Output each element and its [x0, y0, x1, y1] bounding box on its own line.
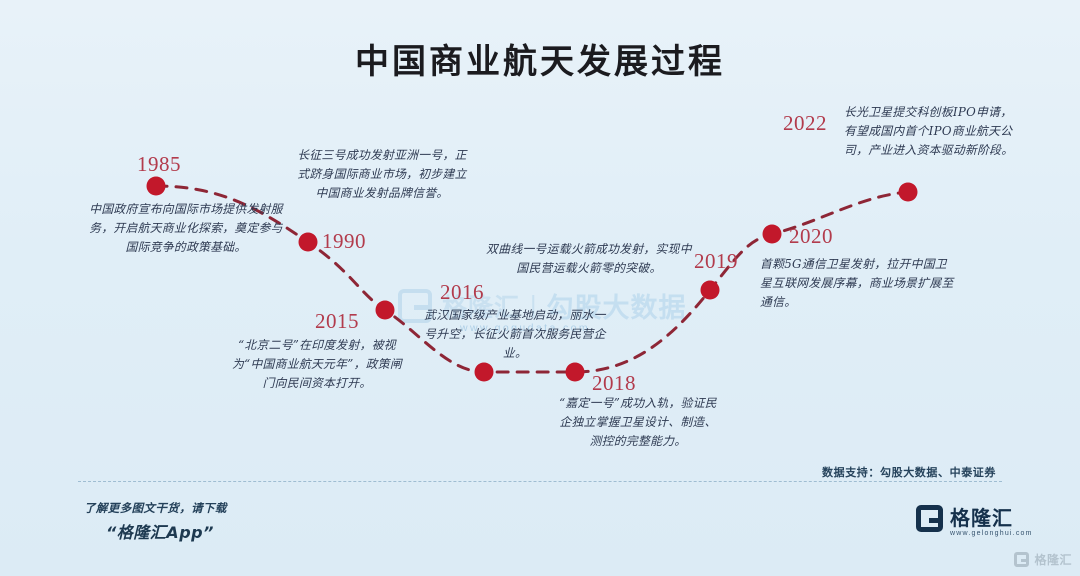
data-source-label: 数据支持：勾股大数据、中泰证券	[822, 464, 996, 480]
milestone-text-2022: 长光卫星提交科创板IPO申请，有望成国内首个IPO商业航天公司，产业进入资本驱动…	[844, 103, 1024, 160]
milestone-text-2015: “北京二号”在印度发射，被视为“中国商业航天元年”，政策闸门向民间资本打开。	[228, 336, 406, 393]
brand-logo-url: www.gelonghui.com	[950, 530, 1033, 537]
timeline-dot-1985	[147, 177, 166, 196]
brand-logo-text: 格隆汇	[950, 509, 1013, 529]
milestone-year-2019: 2019	[694, 249, 738, 274]
timeline-dot-1990	[299, 233, 318, 252]
milestone-year-2015: 2015	[315, 309, 359, 334]
milestone-text-2016: 武汉国家级产业基地启动，丽水一号升空，长征火箭首次服务民营企业。	[424, 306, 606, 363]
corner-watermark-text: 格隆汇	[1034, 551, 1072, 568]
corner-logo-icon	[1014, 552, 1029, 567]
timeline-dot-2020	[763, 225, 782, 244]
milestone-year-2018: 2018	[592, 371, 636, 396]
milestone-text-2020: 首颗5G通信卫星发射，拉开中国卫星互联网发展序幕，商业场景扩展至通信。	[760, 255, 956, 312]
promo-line-1: 了解更多图文干货，请下载	[84, 500, 227, 516]
gelonghui-logo-icon	[916, 505, 943, 532]
timeline-dot-2022	[899, 183, 918, 202]
milestone-text-1990: 长征三号成功发射亚洲一号，正式跻身国际商业市场，初步建立中国商业发射品牌信誉。	[292, 146, 472, 203]
corner-watermark: 格隆汇	[1014, 551, 1072, 568]
timeline-dot-2016	[475, 363, 494, 382]
promo-line-2: “格隆汇App”	[106, 519, 214, 543]
milestone-year-1985: 1985	[137, 152, 181, 177]
milestone-year-2022: 2022	[783, 111, 827, 136]
milestone-text-2018: “嘉定一号”成功入轨，验证民企独立掌握卫星设计、制造、测控的完整能力。	[556, 394, 720, 451]
timeline-dot-2015	[376, 301, 395, 320]
milestone-text-2019: 双曲线一号运载火箭成功发射，实现中国民营运载火箭零的突破。	[486, 240, 692, 278]
milestone-text-1985: 中国政府宣布向国际市场提供发射服务，开启航天商业化探索，奠定参与国际竞争的政策基…	[88, 200, 284, 257]
milestone-year-1990: 1990	[322, 229, 366, 254]
footer-divider	[78, 481, 1002, 482]
brand-logo: 格隆汇	[916, 505, 1013, 532]
infographic-canvas: 中国商业航天发展过程 格隆汇 | 勾股大数据 www.gogudata.com …	[0, 0, 1080, 576]
timeline-dot-2018	[566, 363, 585, 382]
milestone-year-2016: 2016	[440, 280, 484, 305]
milestone-year-2020: 2020	[789, 224, 833, 249]
timeline-dot-2019	[701, 281, 720, 300]
